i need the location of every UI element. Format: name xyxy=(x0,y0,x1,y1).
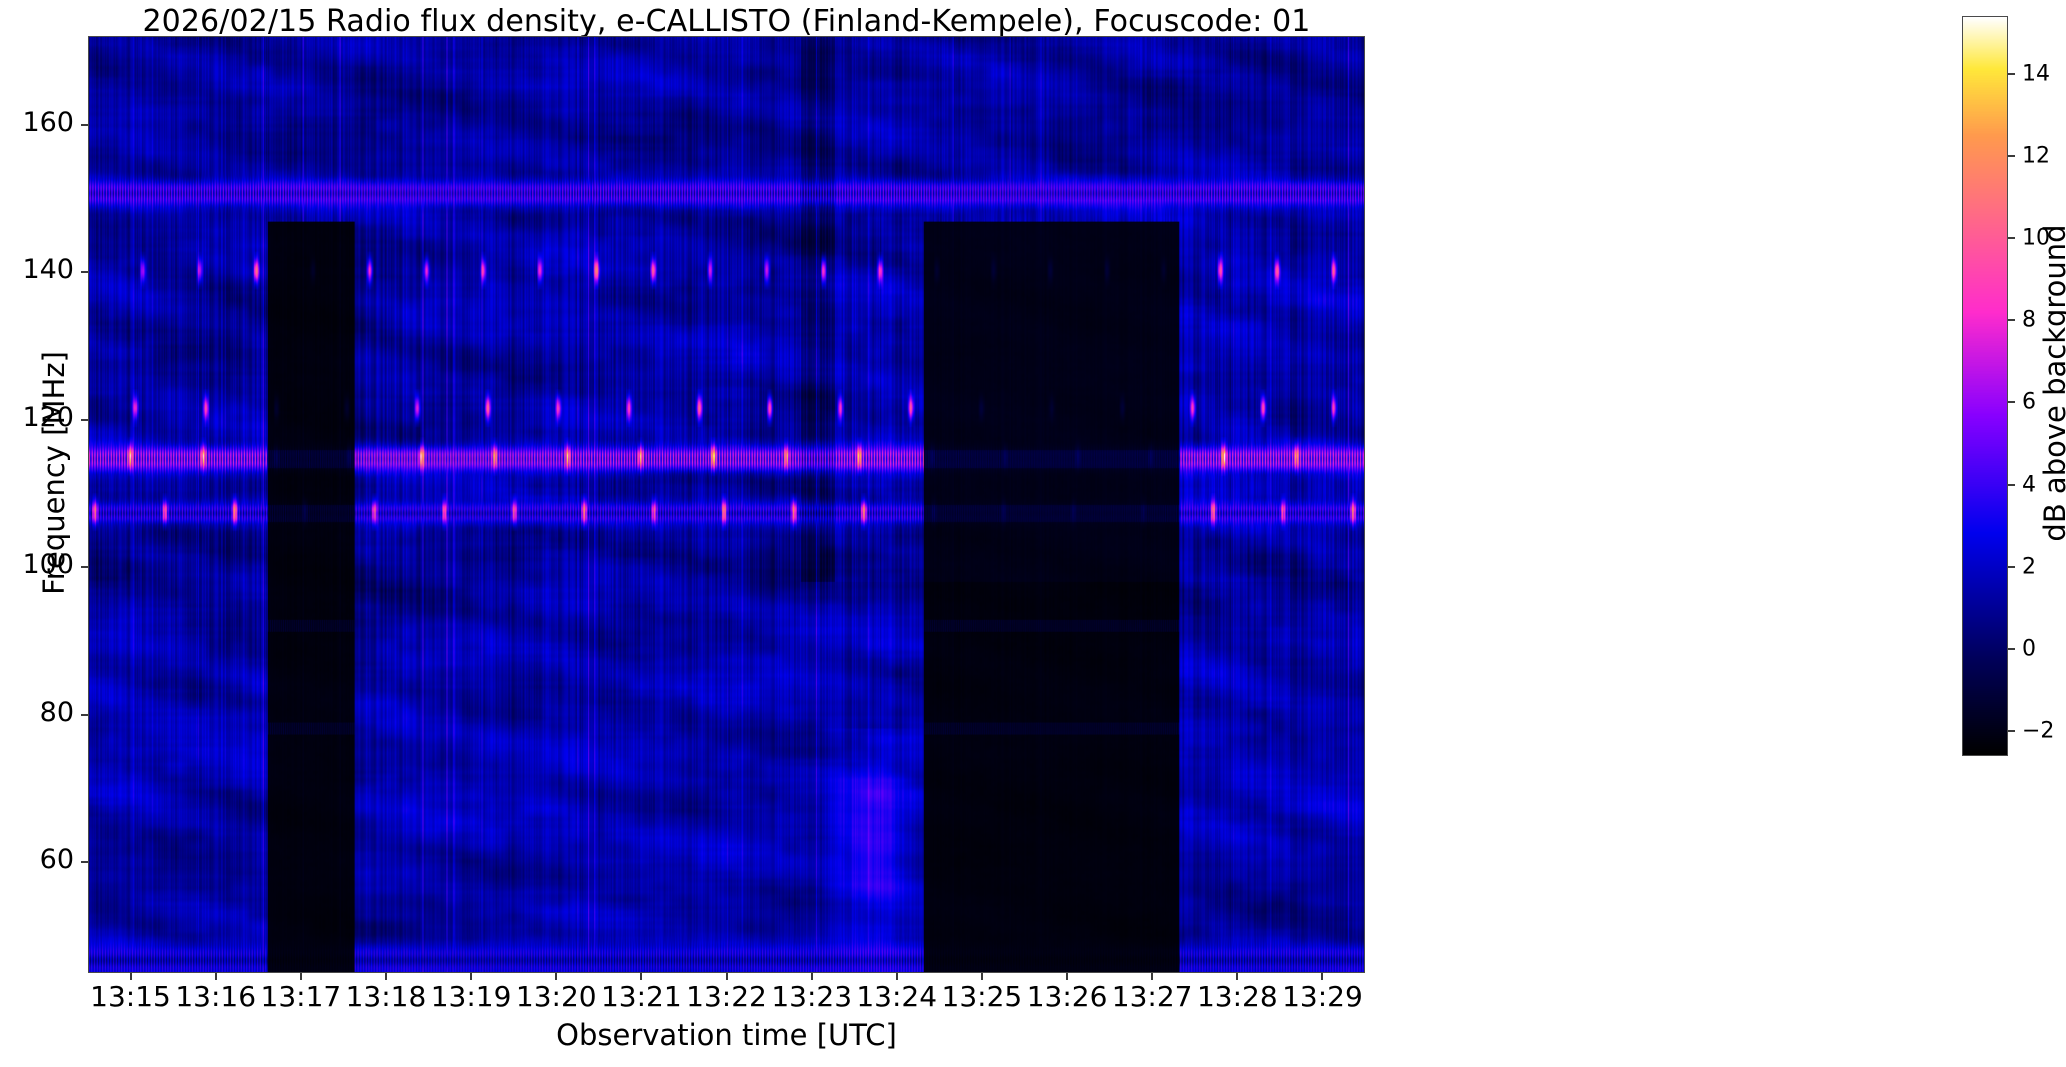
colorbar-tick-mark xyxy=(2008,648,2015,650)
colorbar-tick-mark xyxy=(2008,155,2015,157)
figure-root: 2026/02/15 Radio flux density, e-CALLIST… xyxy=(0,0,2066,1067)
x-tick-mark xyxy=(1236,973,1238,980)
colorbar-gradient xyxy=(1963,17,2007,755)
x-tick-label: 13:21 xyxy=(601,980,682,1013)
x-axis-label: Observation time [UTC] xyxy=(88,1018,1365,1052)
spectrogram-image xyxy=(89,37,1364,972)
y-tick-mark xyxy=(81,714,88,716)
y-tick-mark xyxy=(81,271,88,273)
y-tick-label: 100 xyxy=(0,549,74,580)
colorbar-tick-mark xyxy=(2008,319,2015,321)
colorbar-tick-label: −2 xyxy=(2022,719,2054,744)
x-tick-label: 13:27 xyxy=(1112,980,1193,1013)
x-tick-label: 13:15 xyxy=(90,980,171,1013)
x-tick-label: 13:17 xyxy=(261,980,342,1013)
x-tick-label: 13:23 xyxy=(771,980,852,1013)
x-tick-mark xyxy=(130,973,132,980)
colorbar-tick-mark xyxy=(2008,237,2015,239)
y-tick-mark xyxy=(81,566,88,568)
y-axis-label-wrap: Frequency [MHz] xyxy=(22,36,62,973)
x-tick-label: 13:29 xyxy=(1282,980,1363,1013)
x-tick-label: 13:16 xyxy=(175,980,256,1013)
colorbar-tick-mark xyxy=(2008,566,2015,568)
spectrogram-axes[interactable] xyxy=(88,36,1365,973)
x-tick-mark xyxy=(555,973,557,980)
x-tick-mark xyxy=(726,973,728,980)
x-tick-mark xyxy=(896,973,898,980)
x-tick-label: 13:22 xyxy=(686,980,767,1013)
x-tick-mark xyxy=(1321,973,1323,980)
x-tick-label: 13:20 xyxy=(516,980,597,1013)
x-tick-mark xyxy=(215,973,217,980)
y-tick-mark xyxy=(81,124,88,126)
x-tick-mark xyxy=(1151,973,1153,980)
colorbar-tick-label: 4 xyxy=(2022,472,2036,497)
y-tick-label: 140 xyxy=(0,254,74,285)
y-tick-mark xyxy=(81,419,88,421)
x-tick-mark xyxy=(811,973,813,980)
colorbar-tick-mark xyxy=(2008,484,2015,486)
colorbar-tick-label: 6 xyxy=(2022,390,2036,415)
colorbar-label-wrap: dB above background xyxy=(2040,16,2066,756)
x-tick-label: 13:25 xyxy=(942,980,1023,1013)
colorbar-tick-label: 10 xyxy=(2022,226,2050,251)
y-tick-mark xyxy=(81,861,88,863)
colorbar-tick-mark xyxy=(2008,73,2015,75)
x-tick-label: 13:26 xyxy=(1027,980,1108,1013)
colorbar[interactable] xyxy=(1962,16,2008,756)
colorbar-tick-label: 2 xyxy=(2022,554,2036,579)
colorbar-tick-label: 8 xyxy=(2022,308,2036,333)
y-tick-label: 80 xyxy=(0,697,74,728)
x-tick-mark xyxy=(981,973,983,980)
x-tick-mark xyxy=(300,973,302,980)
x-tick-mark xyxy=(640,973,642,980)
x-tick-mark xyxy=(1066,973,1068,980)
chart-title: 2026/02/15 Radio flux density, e-CALLIST… xyxy=(88,4,1365,39)
y-tick-label: 160 xyxy=(0,107,74,138)
y-tick-label: 60 xyxy=(0,844,74,875)
x-tick-mark xyxy=(385,973,387,980)
y-axis-label: Frequency [MHz] xyxy=(37,213,71,733)
colorbar-tick-label: 0 xyxy=(2022,637,2036,662)
colorbar-tick-label: 14 xyxy=(2022,61,2050,86)
x-tick-mark xyxy=(470,973,472,980)
colorbar-tick-label: 12 xyxy=(2022,143,2050,168)
x-tick-label: 13:18 xyxy=(346,980,427,1013)
x-tick-label: 13:24 xyxy=(856,980,937,1013)
x-tick-label: 13:28 xyxy=(1197,980,1278,1013)
colorbar-tick-mark xyxy=(2008,401,2015,403)
y-tick-label: 120 xyxy=(0,402,74,433)
x-tick-label: 13:19 xyxy=(431,980,512,1013)
colorbar-tick-mark xyxy=(2008,730,2015,732)
